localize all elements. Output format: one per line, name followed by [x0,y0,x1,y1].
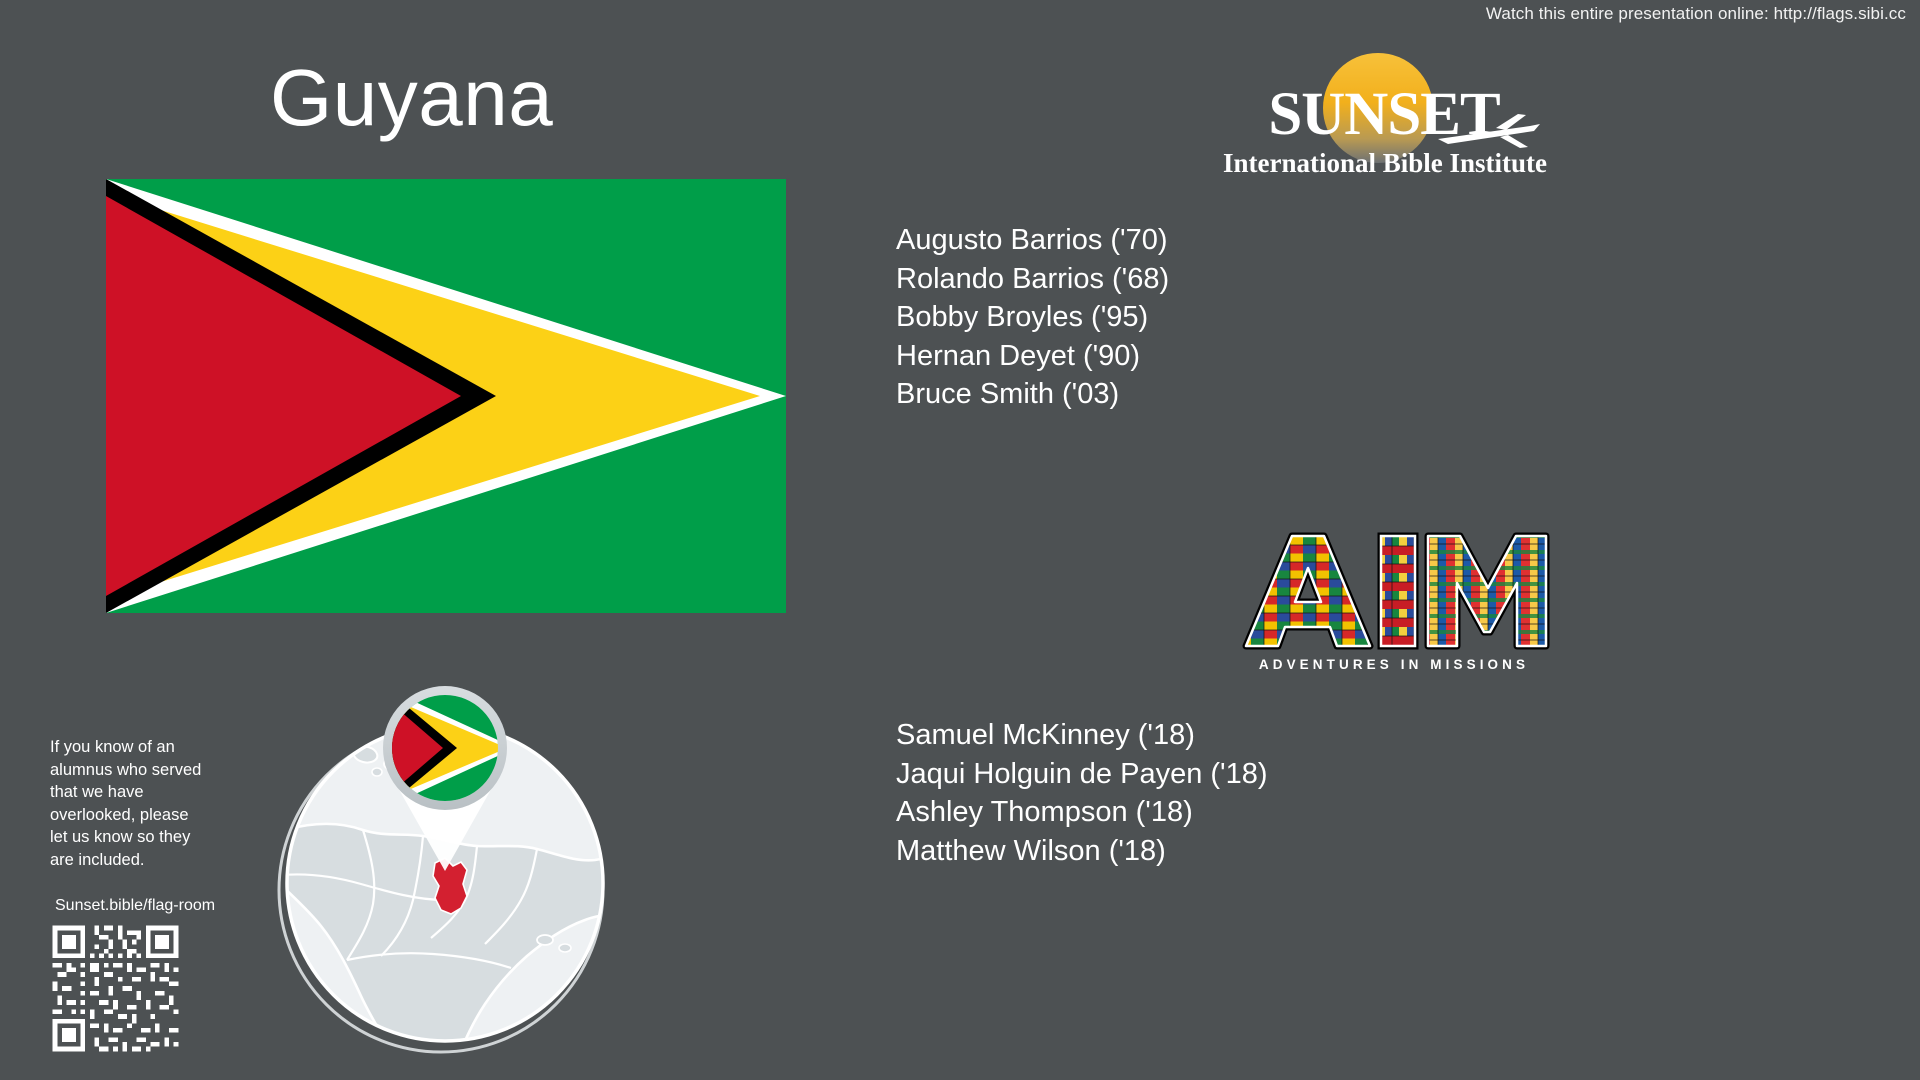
slide-root: Watch this entire presentation online: h… [0,0,1920,1080]
list-item: Matthew Wilson ('18) [896,832,1268,871]
aim-tagline: ADVENTURES IN MISSIONS [1259,657,1529,672]
qr-code[interactable] [48,921,183,1056]
aim-letter-a [1246,536,1370,646]
aim-logo-svg: ADVENTURES IN MISSIONS [1238,528,1550,678]
alumni-list-top: Augusto Barrios ('70) Rolando Barrios ('… [896,221,1169,414]
guyana-highlight [433,858,467,914]
page-title: Guyana [270,58,553,138]
watch-presentation-link[interactable]: Watch this entire presentation online: h… [1486,4,1906,24]
sunset-logo-svg: SUNSET International Bible Institute [1200,38,1570,188]
alumni-note-text: If you know of an alumnus who served tha… [50,736,202,872]
aim-letter-m [1428,536,1546,646]
list-item: Hernan Deyet ('90) [896,337,1169,376]
guyana-flag-svg [106,179,786,613]
aim-letter-i [1381,536,1415,646]
guyana-locator-globe [245,608,645,1070]
list-item: Bobby Broyles ('95) [896,298,1169,337]
adventures-in-missions-logo: ADVENTURES IN MISSIONS [1238,528,1550,678]
list-item: Rolando Barrios ('68) [896,260,1169,299]
sunset-subtitle: International Bible Institute [1223,148,1547,178]
list-item: Ashley Thompson ('18) [896,793,1268,832]
guyana-flag [106,179,786,613]
globe-svg [245,608,645,1070]
flag-room-url[interactable]: Sunset.bible/flag-room [55,897,215,915]
alumni-list-bottom: Samuel McKinney ('18) Jaqui Holguin de P… [896,716,1268,870]
qr-code-svg [48,921,183,1056]
list-item: Jaqui Holguin de Payen ('18) [896,755,1268,794]
sunset-international-bible-institute-logo: SUNSET International Bible Institute [1200,38,1570,188]
list-item: Samuel McKinney ('18) [896,716,1268,755]
list-item: Augusto Barrios ('70) [896,221,1169,260]
list-item: Bruce Smith ('03) [896,375,1169,414]
